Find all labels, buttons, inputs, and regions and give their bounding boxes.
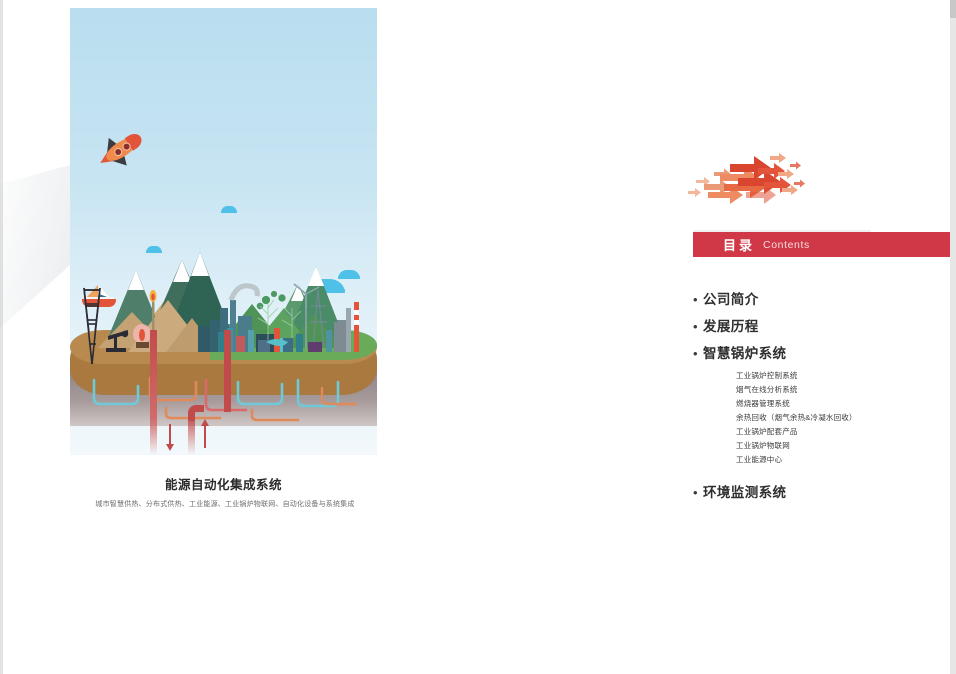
ground-green-surface [210,330,377,360]
cover-page: 能源自动化集成系统 城市智慧供热、分布式供热、工业能源、工业锅炉物联网、自动化设… [0,0,470,674]
bullet-icon: • [693,293,703,306]
return-pipe-down [188,412,195,455]
document-canvas: 能源自动化集成系统 城市智慧供热、分布式供热、工业能源、工业锅炉物联网、自动化设… [0,0,956,674]
toc-subitem[interactable]: 工业锅炉配套产品 [736,425,953,439]
toc-subitem[interactable]: 烟气在线分析系统 [736,383,953,397]
toc-subitem[interactable]: 燃烧器管理系统 [736,397,953,411]
cover-subtitle: 城市智慧供热、分布式供热、工业能源、工业锅炉物联网、自动化设备与系统集成 [60,499,390,509]
right-scrollbar-track[interactable] [950,0,956,674]
scrollbar-thumb[interactable] [950,0,956,18]
flow-arrow-up-head-icon [201,419,209,426]
flow-arrow-up-icon [204,424,206,448]
return-pipe-right [224,330,231,412]
cover-title: 能源自动化集成系统 [70,474,377,493]
toc-item-label: 公司简介 [703,288,759,308]
toc-item-label: 环境监测系统 [703,481,786,501]
toc-item-history[interactable]: • 发展历程 [693,315,953,335]
table-of-contents: • 公司简介 • 发展历程 • 智慧锅炉系统 工业锅炉控制系统 烟气在线分析系统… [693,288,953,508]
toc-subitem[interactable]: 余热回收（烟气余热&冷凝水回收） [736,411,953,425]
banner-title-cn: 目录 [723,235,755,254]
contents-page: 目录 Contents • 公司简介 • 发展历程 • 智慧锅炉系统 工业锅炉控… [470,0,956,674]
supply-pipe-left [150,330,157,455]
flow-arrow-down-head-icon [166,444,174,451]
toc-item-label: 发展历程 [703,315,759,335]
toc-subitem[interactable]: 工业锅炉控制系统 [736,369,953,383]
bullet-icon: • [693,486,703,499]
bullet-icon: • [693,320,703,333]
toc-item-company-intro[interactable]: • 公司简介 [693,288,953,308]
arrow-cluster-logo [686,148,810,204]
toc-item-label: 智慧锅炉系统 [703,342,786,362]
bullet-icon: • [693,347,703,360]
toc-item-smart-boiler-system[interactable]: • 智慧锅炉系统 [693,342,953,362]
contents-banner: 目录 Contents [693,232,952,257]
toc-subitem[interactable]: 工业锅炉物联网 [736,439,953,453]
toc-item-environment-monitoring[interactable]: • 环境监测系统 [693,481,953,501]
banner-title-en: Contents [763,239,810,251]
toc-subitem[interactable]: 工业能源中心 [736,453,953,467]
toc-sublist: 工业锅炉控制系统 烟气在线分析系统 燃烧器管理系统 余热回收（烟气余热&冷凝水回… [736,369,953,467]
